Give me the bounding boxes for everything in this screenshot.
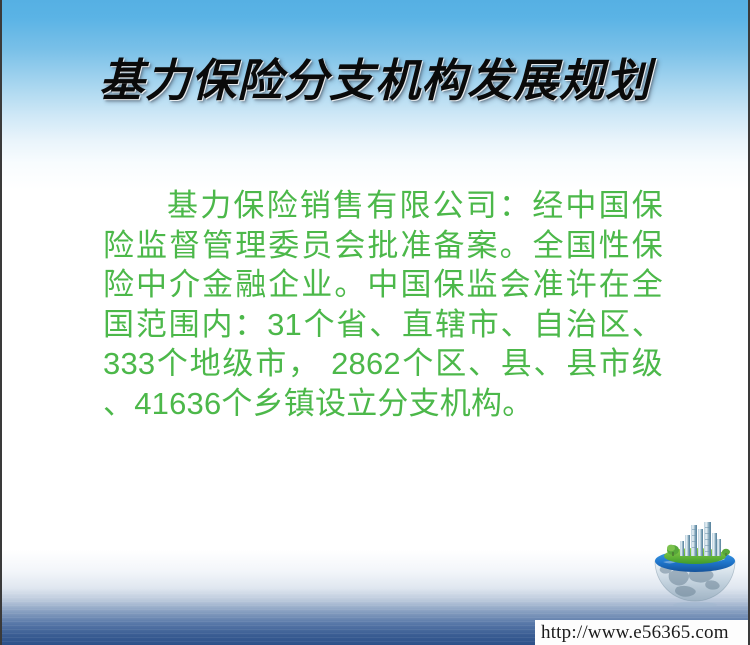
slide-title-container: 基力保险分支机构发展规划 bbox=[2, 58, 748, 105]
presentation-slide: 基力保险分支机构发展规划 基力保险销售有限公司：经中国保险监督管理委员会批准备案… bbox=[0, 0, 750, 645]
watermark-url-box: http://www.e56365.com bbox=[535, 620, 750, 645]
globe-city-icon bbox=[647, 517, 743, 613]
body-paragraph: 基力保险销售有限公司：经中国保险监督管理委员会批准备案。全国性保险中介金融企业。… bbox=[103, 186, 663, 423]
slide-body-container: 基力保险销售有限公司：经中国保险监督管理委员会批准备案。全国性保险中介金融企业。… bbox=[103, 186, 663, 423]
sky-gradient-background bbox=[2, 0, 748, 190]
page-title: 基力保险分支机构发展规划 bbox=[99, 58, 651, 105]
watermark-url-text: http://www.e56365.com bbox=[535, 622, 729, 644]
